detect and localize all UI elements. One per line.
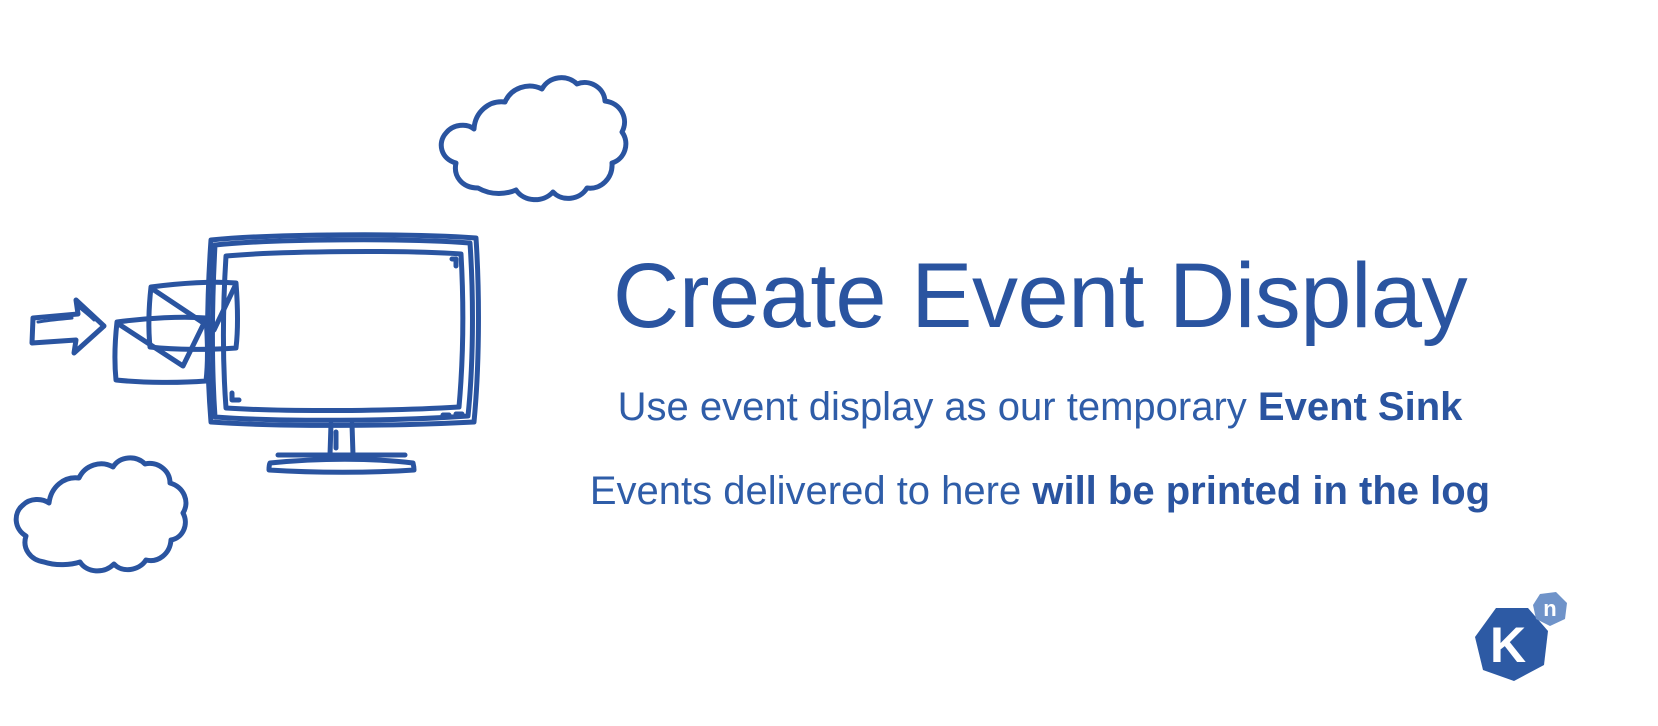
arrow-icon bbox=[32, 300, 104, 353]
envelope-icon bbox=[115, 317, 208, 382]
subtitle-line-1-plain: Use event display as our temporary bbox=[618, 385, 1258, 429]
text-block: Create Event Display Use event display a… bbox=[540, 248, 1540, 511]
subtitle-line-2-emphasis: will be printed in the log bbox=[1032, 469, 1490, 513]
page-title: Create Event Display bbox=[540, 248, 1540, 345]
subtitle-line-2: Events delivered to here will be printed… bbox=[540, 471, 1540, 511]
knative-logo-letter-n: n bbox=[1543, 596, 1556, 621]
subtitle-line-1-emphasis: Event Sink bbox=[1258, 385, 1463, 429]
slide-canvas: Create Event Display Use event display a… bbox=[0, 0, 1658, 726]
cloud-icon bbox=[441, 78, 626, 200]
monitor-icon bbox=[208, 235, 479, 472]
cloud-icon bbox=[16, 458, 186, 571]
knative-logo-letter-k: K bbox=[1490, 617, 1526, 673]
subtitle-line-1: Use event display as our temporary Event… bbox=[540, 387, 1540, 427]
knative-logo: K n bbox=[1450, 586, 1580, 698]
subtitle-line-2-plain: Events delivered to here bbox=[590, 469, 1032, 513]
